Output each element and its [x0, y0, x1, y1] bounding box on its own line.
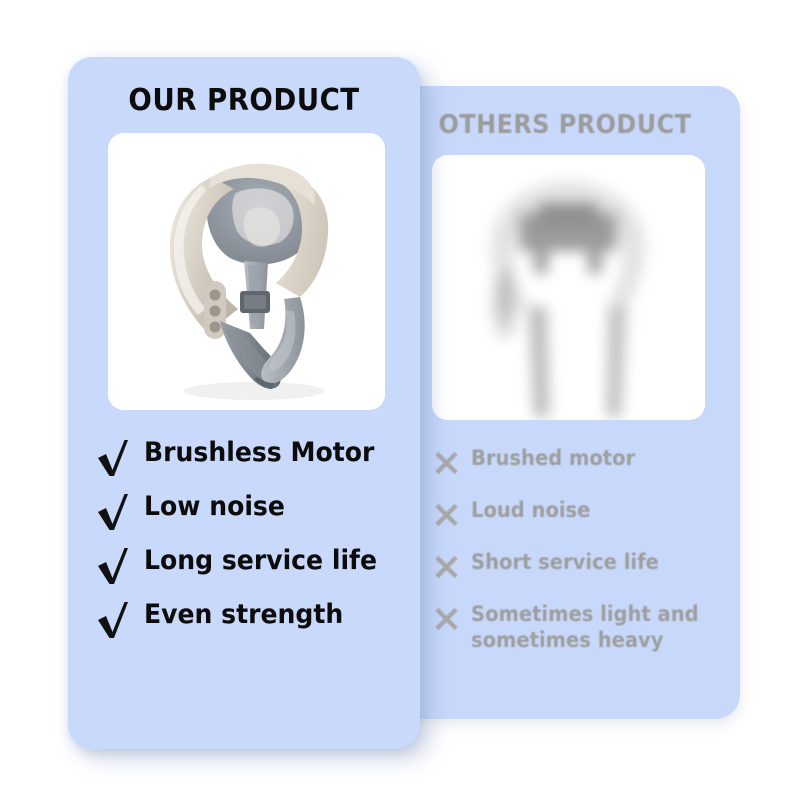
others-feature-label: Brushed motor	[471, 445, 635, 471]
blurred-competitor-product-photo	[432, 155, 705, 420]
others-product-photo-panel	[432, 155, 705, 420]
check-icon	[96, 491, 130, 531]
check-icon	[96, 545, 130, 585]
others-product-card: OTHERS PRODUCT	[390, 86, 740, 719]
our-feature-item: Even strength	[96, 597, 396, 639]
our-product-card: OUR PRODUCT	[68, 57, 420, 749]
neck-massager-product-photo	[108, 133, 385, 410]
others-feature-label: Loud noise	[471, 497, 590, 523]
our-product-photo-panel	[108, 133, 385, 410]
our-feature-item: Brushless Motor	[96, 435, 396, 477]
our-feature-label: Long service life	[144, 543, 377, 579]
others-feature-label: Sometimes light and sometimes heavy	[471, 601, 707, 653]
others-feature-item: Sometimes light and sometimes heavy	[435, 601, 725, 653]
cross-icon	[435, 553, 458, 581]
our-feature-label: Even strength	[144, 597, 343, 633]
others-feature-item: Brushed motor	[435, 445, 725, 477]
check-icon	[96, 599, 130, 639]
cross-icon	[435, 449, 458, 477]
comparison-graphic: OTHERS PRODUCT	[0, 0, 800, 800]
others-feature-item: Loud noise	[435, 497, 725, 529]
others-feature-item: Short service life	[435, 549, 725, 581]
cross-icon	[435, 501, 458, 529]
others-feature-list: Brushed motor Loud noise Short service l…	[435, 445, 725, 673]
our-feature-label: Low noise	[144, 489, 285, 525]
check-icon	[96, 437, 130, 477]
others-product-title: OTHERS PRODUCT	[404, 110, 726, 140]
our-feature-list: Brushless Motor Low noise Long service l…	[96, 435, 396, 651]
cross-icon	[435, 605, 458, 633]
others-feature-label: Short service life	[471, 549, 659, 575]
our-product-title: OUR PRODUCT	[82, 83, 406, 118]
our-feature-label: Brushless Motor	[144, 435, 374, 471]
our-feature-item: Low noise	[96, 489, 396, 531]
our-feature-item: Long service life	[96, 543, 396, 585]
